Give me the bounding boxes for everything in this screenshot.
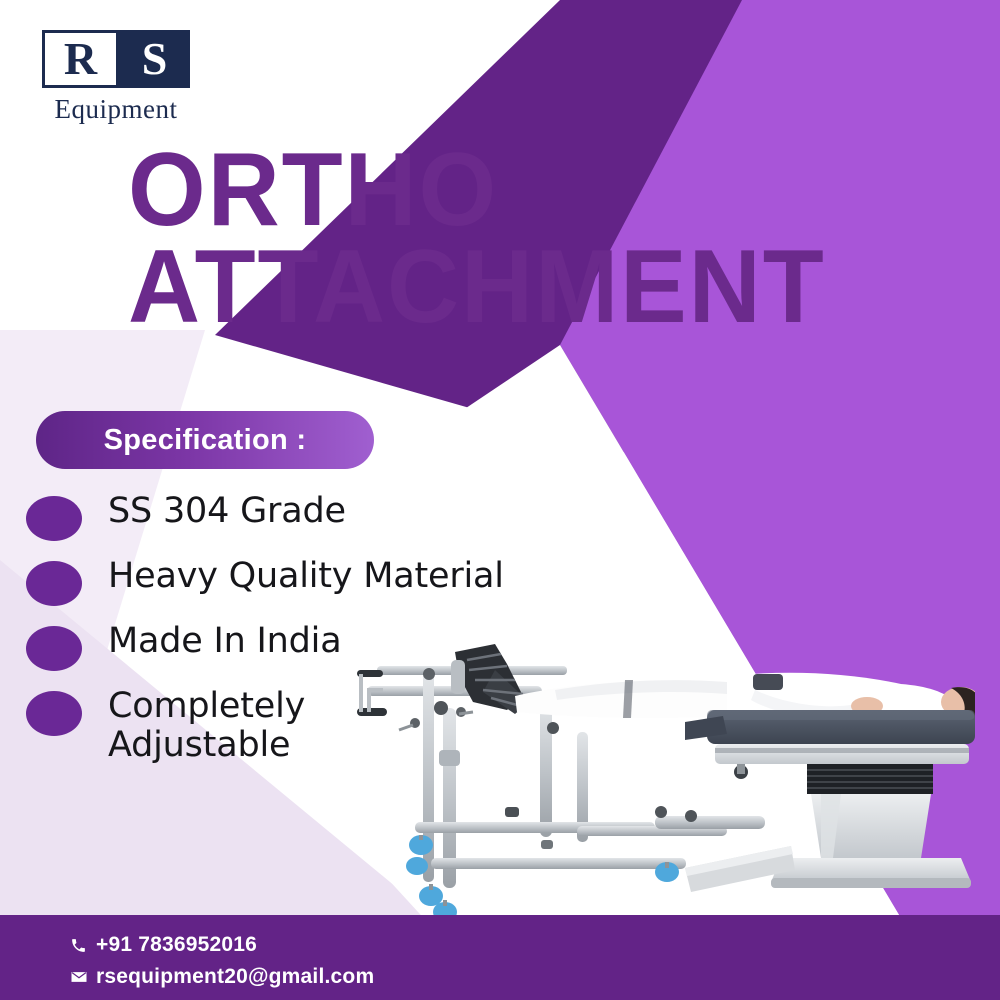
bullet-dot-icon [26,626,82,671]
phone-icon [70,937,96,954]
footer-email-row[interactable]: rsequipment20@gmail.com [70,965,374,989]
bullet-dot-icon [26,561,82,606]
logo-wordmark: Equipment [42,94,190,125]
list-item-label: Heavy Quality Material [108,557,504,596]
page-title: ORTHO ATTACHMENT [128,142,855,335]
footer-email-address: rsequipment20@gmail.com [96,965,374,989]
list-item-label: SS 304 Grade [108,492,346,531]
envelope-icon [70,968,96,986]
logo-mark: R S [42,30,190,88]
specification-badge-label: Specification : [104,424,307,457]
list-item: SS 304 Grade [26,492,586,541]
logo-letter-s: S [119,30,190,88]
list-item: Heavy Quality Material [26,557,586,606]
brand-logo: R S Equipment [42,30,202,125]
list-item-label: Made In India [108,622,341,661]
title-line-1: ORTHO [128,142,826,239]
logo-letter-r: R [42,30,119,88]
title-line-2: ATTACHMENT [128,239,826,336]
list-item-label: Completely Adjustable [108,687,348,765]
specification-badge: Specification : [36,411,374,469]
footer-phone-number: +91 7836952016 [96,933,257,957]
footer-phone-row[interactable]: +91 7836952016 [70,933,257,957]
poster-canvas: R S Equipment ORTHO ATTACHMENT Specifica… [0,0,1000,1000]
bullet-dot-icon [26,691,82,736]
contact-footer: +91 7836952016 rsequipment20@gmail.com [0,915,1000,1000]
product-image [355,630,975,920]
bullet-dot-icon [26,496,82,541]
